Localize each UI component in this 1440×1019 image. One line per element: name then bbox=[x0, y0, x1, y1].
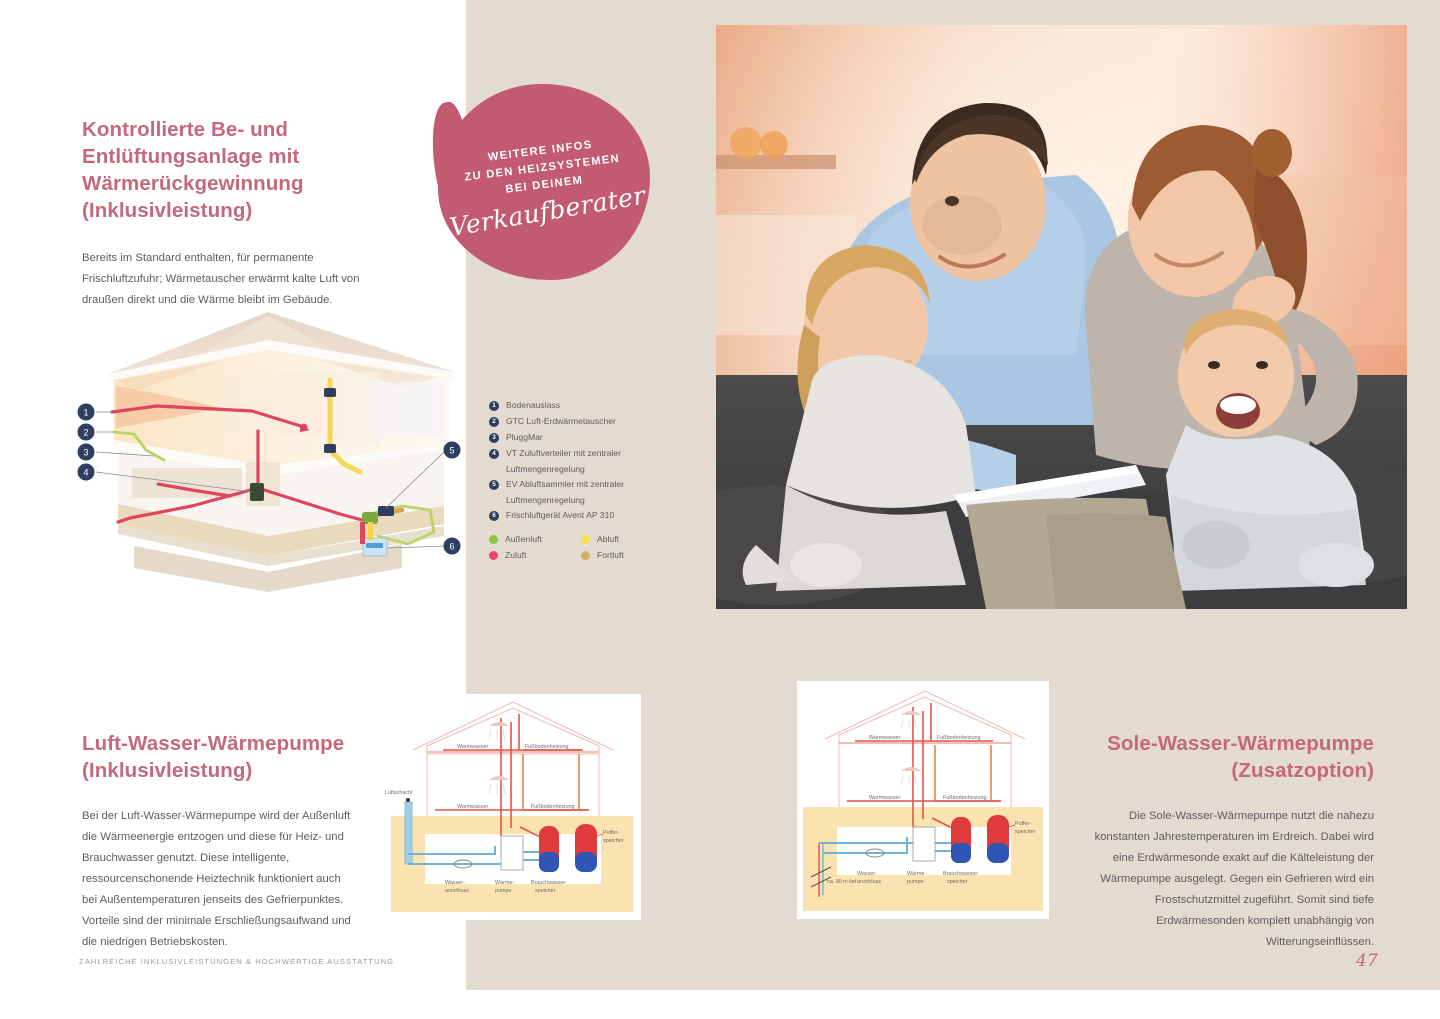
svg-text:6: 6 bbox=[449, 542, 454, 552]
legend-item-label: Bodenauslass bbox=[506, 398, 560, 413]
swatch-dot-yellow bbox=[581, 535, 590, 544]
legend-item: 4 VT Zuluftverteiler mit zentraler bbox=[489, 446, 699, 461]
legend-item: 1 Bodenauslass bbox=[489, 398, 699, 413]
svg-text:2: 2 bbox=[83, 428, 88, 438]
label-wasseranschluss-1: Wasser- bbox=[445, 880, 465, 886]
legend-item: 3 PluggMar bbox=[489, 430, 699, 445]
label-fussboden-bottom: Fußbodenheizung bbox=[943, 795, 986, 801]
legend-item: 6 Frischluftgerät Avent AP 310 bbox=[489, 508, 699, 523]
legend-number-badge: 6 bbox=[489, 511, 499, 521]
ventilation-legend-list: 1 Bodenauslass 2 GTC Luft-Erdwärmetausch… bbox=[489, 398, 699, 524]
label-wasseranschluss-2: anschluss bbox=[445, 888, 469, 894]
swatch-dot-green bbox=[489, 535, 498, 544]
swatch-label: Fortluft bbox=[597, 549, 624, 562]
label-wasseranschluss-1: Wasser- bbox=[857, 871, 877, 877]
brine-water-heading: Sole-Wasser-Wärmepumpe (Zusatzoption) bbox=[1090, 730, 1374, 784]
label-fussboden-bottom: Fußbodenheizung bbox=[531, 804, 574, 810]
air-water-body: Bei der Luft-Wasser-Wärmepumpe wird der … bbox=[82, 806, 354, 953]
legend-item-label-continued: Luftmengenregelung bbox=[506, 462, 699, 477]
label-brauchwasser-1: Brauchwasser- bbox=[943, 871, 979, 877]
swatch-abluft: Abluft bbox=[581, 533, 663, 546]
swatch-label: Außenluft bbox=[505, 533, 542, 546]
legend-item-label: PluggMar bbox=[506, 430, 543, 445]
legend-item-label: VT Zuluftverteiler mit zentraler bbox=[506, 446, 621, 461]
label-fussboden-top: Fußbodenheizung bbox=[525, 744, 568, 750]
footer-caption: ZAHLREICHE INKLUSIVLEISTUNGEN & HOCHWERT… bbox=[79, 957, 394, 966]
legend-item: 2 GTC Luft-Erdwärmetauscher bbox=[489, 414, 699, 429]
label-warmwasser-top: Warmwasser bbox=[869, 735, 900, 741]
diagram-brine-water-heatpump: ca. 90 m tief Warmwasser Warmwasser Fußb… bbox=[797, 681, 1049, 919]
label-wasseranschluss-2: anschluss bbox=[857, 879, 881, 885]
swatch-aussenluft: Außenluft bbox=[489, 533, 571, 546]
legend-item-label: GTC Luft-Erdwärmetauscher bbox=[506, 414, 616, 429]
svg-text:3: 3 bbox=[83, 448, 88, 458]
swatch-fortluft: Fortluft bbox=[581, 549, 663, 562]
family-photo bbox=[716, 25, 1407, 609]
swatch-zuluft: Zuluft bbox=[489, 549, 571, 562]
label-puffer-1: Puffer- bbox=[1015, 821, 1031, 827]
cutaway-house-illustration: 1 2 3 4 5 6 bbox=[72, 300, 462, 592]
brine-water-body: Die Sole-Wasser-Wärmepumpe nutzt die nah… bbox=[1090, 806, 1374, 953]
label-warmwasser-bottom: Warmwasser bbox=[457, 804, 488, 810]
brochure-page: Kontrollierte Be- und Entlüftungsanlage … bbox=[0, 0, 1440, 1019]
label-luftschacht: Luftschacht bbox=[385, 790, 413, 796]
swatch-dot-tan bbox=[581, 551, 590, 560]
swatch-label: Zuluft bbox=[505, 549, 527, 562]
label-waermepumpe-2: pumpe bbox=[495, 888, 511, 894]
legend-number-badge: 5 bbox=[489, 480, 499, 490]
label-waermepumpe-1: Wärme- bbox=[495, 880, 514, 886]
label-warmwasser-top: Warmwasser bbox=[457, 744, 488, 750]
section-air-water-heatpump: Luft-Wasser-Wärmepumpe (Inklusivleistung… bbox=[82, 730, 382, 953]
legend-number-badge: 2 bbox=[489, 417, 499, 427]
air-water-heading: Luft-Wasser-Wärmepumpe (Inklusivleistung… bbox=[82, 730, 382, 784]
label-tiefe: ca. 90 m tief bbox=[827, 879, 857, 885]
label-fussboden-top: Fußbodenheizung bbox=[937, 735, 980, 741]
legend-item-label: Frischluftgerät Avent AP 310 bbox=[506, 508, 614, 523]
section-brine-water-heatpump: Sole-Wasser-Wärmepumpe (Zusatzoption) Di… bbox=[1090, 730, 1374, 953]
section-ventilation: Kontrollierte Be- und Entlüftungsanlage … bbox=[82, 116, 382, 311]
page-number: 47 bbox=[1356, 951, 1378, 971]
ventilation-heading: Kontrollierte Be- und Entlüftungsanlage … bbox=[82, 116, 382, 224]
label-warmwasser-bottom: Warmwasser bbox=[869, 795, 900, 801]
svg-text:1: 1 bbox=[83, 408, 88, 418]
label-puffer-1: Puffer- bbox=[603, 830, 619, 836]
label-waermepumpe-2: pumpe bbox=[907, 879, 923, 885]
info-badge-sticker[interactable]: WEITERE INFOS ZU DEN HEIZSYSTEMEN BEI DE… bbox=[438, 84, 650, 280]
airflow-color-key: Außenluft Abluft Zuluft Fortluft bbox=[489, 533, 664, 562]
label-waermepumpe-1: Wärme- bbox=[907, 871, 926, 877]
label-brauchwasser-2: speicher bbox=[947, 879, 968, 885]
diagram-air-water-heatpump: Luftschacht Warmwasser Warmwasser Fußbod… bbox=[383, 694, 641, 920]
legend-number-badge: 4 bbox=[489, 449, 499, 459]
svg-text:4: 4 bbox=[83, 468, 88, 478]
label-brauchwasser-1: Brauchwasser- bbox=[531, 880, 567, 886]
badge-text-group: WEITERE INFOS ZU DEN HEIZSYSTEMEN BEI DE… bbox=[427, 72, 661, 292]
legend-item: 5 EV Abluftsammler mit zentraler bbox=[489, 477, 699, 492]
legend-item-label-continued: Luftmengenregelung bbox=[506, 493, 699, 508]
legend-item-label: EV Abluftsammler mit zentraler bbox=[506, 477, 624, 492]
label-puffer-2: speicher bbox=[603, 838, 624, 844]
legend-number-badge: 1 bbox=[489, 401, 499, 411]
legend-number-badge: 3 bbox=[489, 433, 499, 443]
swatch-label: Abluft bbox=[597, 533, 619, 546]
swatch-dot-red bbox=[489, 551, 498, 560]
svg-text:5: 5 bbox=[449, 446, 454, 456]
white-bottom-margin bbox=[466, 990, 1440, 1019]
label-puffer-2: speicher bbox=[1015, 829, 1036, 835]
label-brauchwasser-2: speicher bbox=[535, 888, 556, 894]
